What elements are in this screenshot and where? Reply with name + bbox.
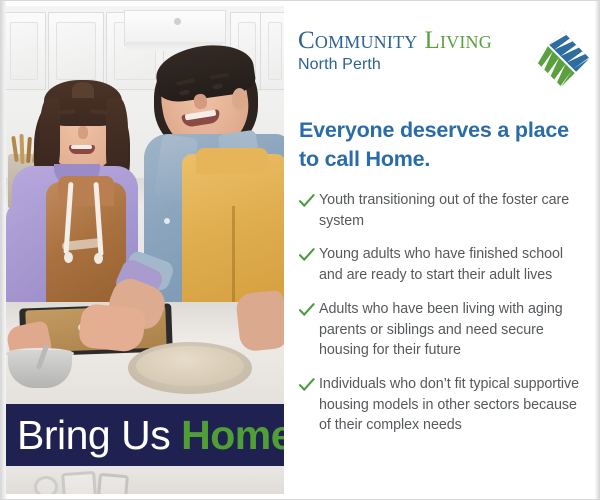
cabinet-door	[260, 12, 284, 90]
apron-strap-tip	[94, 253, 103, 264]
list-item-label: Adults who have been living with aging p…	[319, 299, 587, 361]
check-mark-icon	[299, 244, 319, 266]
logo-word-living: Living	[424, 27, 491, 54]
list-item: Young adults who have finished school an…	[299, 244, 587, 285]
list-item: Youth transitioning out of the foster ca…	[299, 190, 587, 231]
page-title: Everyone deserves a place to call Home.	[299, 116, 569, 173]
banner-text-green: Home	[181, 412, 284, 458]
bring-us-home-poster: Bring Us Home CommunityLiving North Pert…	[0, 0, 600, 500]
apron-strap-tip	[64, 252, 73, 263]
content-panel: CommunityLiving North Perth	[288, 6, 594, 494]
diamond-sunburst-logo-mark	[534, 28, 590, 90]
check-mark-icon	[299, 374, 319, 396]
teeth	[71, 145, 92, 149]
hand	[235, 290, 284, 353]
range-hood	[124, 10, 226, 46]
panel-divider	[285, 6, 288, 494]
pie-dough	[136, 346, 244, 386]
cookie-cutter	[97, 473, 129, 494]
banner-text: Bring Us Home	[6, 415, 284, 456]
list-item-label: Youth transitioning out of the foster ca…	[319, 190, 587, 231]
frame-edge-left	[0, 0, 6, 500]
bring-us-home-banner: Bring Us Home	[6, 404, 284, 466]
list-item: Individuals who don’t fit typical suppor…	[299, 374, 587, 436]
logo-wordmark: CommunityLiving North Perth	[298, 28, 538, 74]
eligibility-list: Youth transitioning out of the foster ca…	[299, 190, 587, 449]
banner-text-white: Bring Us	[17, 412, 181, 458]
list-item: Adults who have been living with aging p…	[299, 299, 587, 361]
cabinet-door	[6, 12, 46, 90]
cabinet-door	[48, 12, 104, 90]
check-mark-icon	[299, 299, 319, 321]
young-woman-hair-side	[40, 98, 60, 172]
cookie-cutter	[34, 476, 58, 494]
cookie-cutter	[61, 471, 97, 494]
apron-fold	[232, 206, 235, 316]
hand	[78, 303, 146, 353]
shirt-button	[164, 218, 170, 224]
hoodie-sleeve	[6, 202, 50, 314]
hood-knob	[174, 18, 181, 25]
nose	[78, 126, 88, 139]
logo-tagline: North Perth	[298, 56, 538, 74]
list-item-label: Individuals who don’t fit typical suppor…	[319, 374, 587, 436]
yellow-apron-bib	[196, 148, 268, 174]
logo-word-community: Community	[298, 27, 417, 54]
check-mark-icon	[299, 190, 319, 212]
list-item-label: Young adults who have finished school an…	[319, 244, 587, 285]
young-woman-hair-part	[72, 82, 94, 98]
ear	[232, 88, 247, 110]
eye	[92, 120, 102, 125]
eye	[61, 120, 71, 125]
frame-edge-right	[595, 0, 600, 500]
logo-primary-line: CommunityLiving	[298, 28, 538, 54]
community-living-north-perth-logo[interactable]: CommunityLiving North Perth	[298, 28, 584, 98]
